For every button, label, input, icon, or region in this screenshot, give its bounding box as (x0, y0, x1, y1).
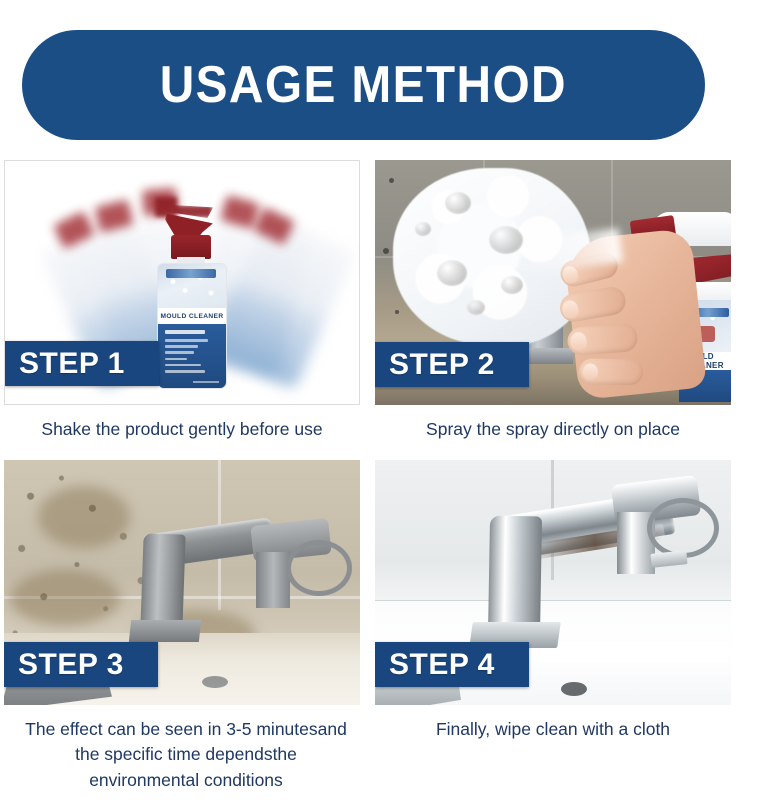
step-4-caption: Finally, wipe clean with a cloth (375, 705, 731, 742)
page-title: USAGE METHOD (160, 55, 567, 115)
steps-row-bottom: STEP 3 STEP 4 (0, 460, 759, 705)
step-3-panel: STEP 3 (4, 460, 360, 705)
product-bottle: MOULD CLEANER (157, 235, 225, 387)
mould-speck (395, 310, 399, 314)
finger (558, 285, 628, 324)
foam-bubble (415, 222, 431, 236)
application-line (165, 364, 201, 367)
mould-speck (389, 178, 394, 183)
application-line (165, 358, 187, 361)
captions-row-top: Shake the product gently before use Spra… (0, 405, 759, 460)
step-3-badge: STEP 3 (4, 642, 158, 688)
brand-mark (166, 269, 216, 278)
faucet-handle-loop (286, 540, 352, 596)
application-line (165, 370, 205, 373)
bottle-cap (171, 235, 211, 259)
faucet-base-plate (129, 620, 201, 642)
application-line (165, 345, 198, 348)
fingernail (583, 363, 598, 379)
applications-heading (165, 330, 205, 334)
faucet-neck (488, 516, 542, 637)
steps-grid: MOULD CLEANER STEP 1 (0, 160, 759, 800)
product-name: MOULD CLEANER (158, 308, 226, 324)
step-3-caption: The effect can be seen in 3-5 minutesand… (4, 705, 360, 793)
stain-blotch (38, 486, 130, 548)
faucet-handle-loop (647, 498, 719, 558)
stain-blotch (10, 570, 120, 626)
steps-row-top: MOULD CLEANER STEP 1 (0, 160, 759, 405)
step-1-badge: STEP 1 (5, 341, 159, 387)
foam-bubble (437, 260, 467, 286)
drain (202, 676, 228, 688)
mould-speck (383, 248, 389, 254)
application-line (165, 339, 208, 342)
application-line (165, 351, 194, 354)
bottle-body: MOULD CLEANER (157, 263, 227, 389)
step-2-caption: Spray the spray directly on place (375, 405, 731, 442)
label-applications-panel (158, 324, 226, 388)
faucet-neck (140, 533, 185, 630)
captions-row-bottom: The effect can be seen in 3-5 minutesand… (0, 705, 759, 800)
foam-bubble (501, 276, 523, 294)
finger (579, 358, 643, 385)
drain (561, 682, 587, 696)
faucet-tab (650, 550, 687, 568)
step-1-caption: Shake the product gently before use (4, 405, 360, 442)
label-artwork (158, 264, 226, 308)
step-2-panel: MOULD CLEANER STEP 2 (375, 160, 731, 405)
foam-bubble (445, 192, 471, 214)
label-footnote (193, 381, 219, 383)
header: USAGE METHOD (0, 0, 759, 160)
foam-bubble (489, 226, 523, 254)
fingernail (570, 332, 587, 351)
step-2-badge: STEP 2 (375, 342, 529, 388)
step-1-panel: MOULD CLEANER STEP 1 (4, 160, 360, 405)
foam-bubble (467, 300, 485, 315)
faucet-handle-stem (256, 552, 290, 608)
step-4-panel: STEP 4 (375, 460, 731, 705)
fingernail (561, 299, 580, 320)
step-4-badge: STEP 4 (375, 642, 529, 688)
header-pill: USAGE METHOD (22, 30, 705, 140)
finger (567, 323, 639, 356)
